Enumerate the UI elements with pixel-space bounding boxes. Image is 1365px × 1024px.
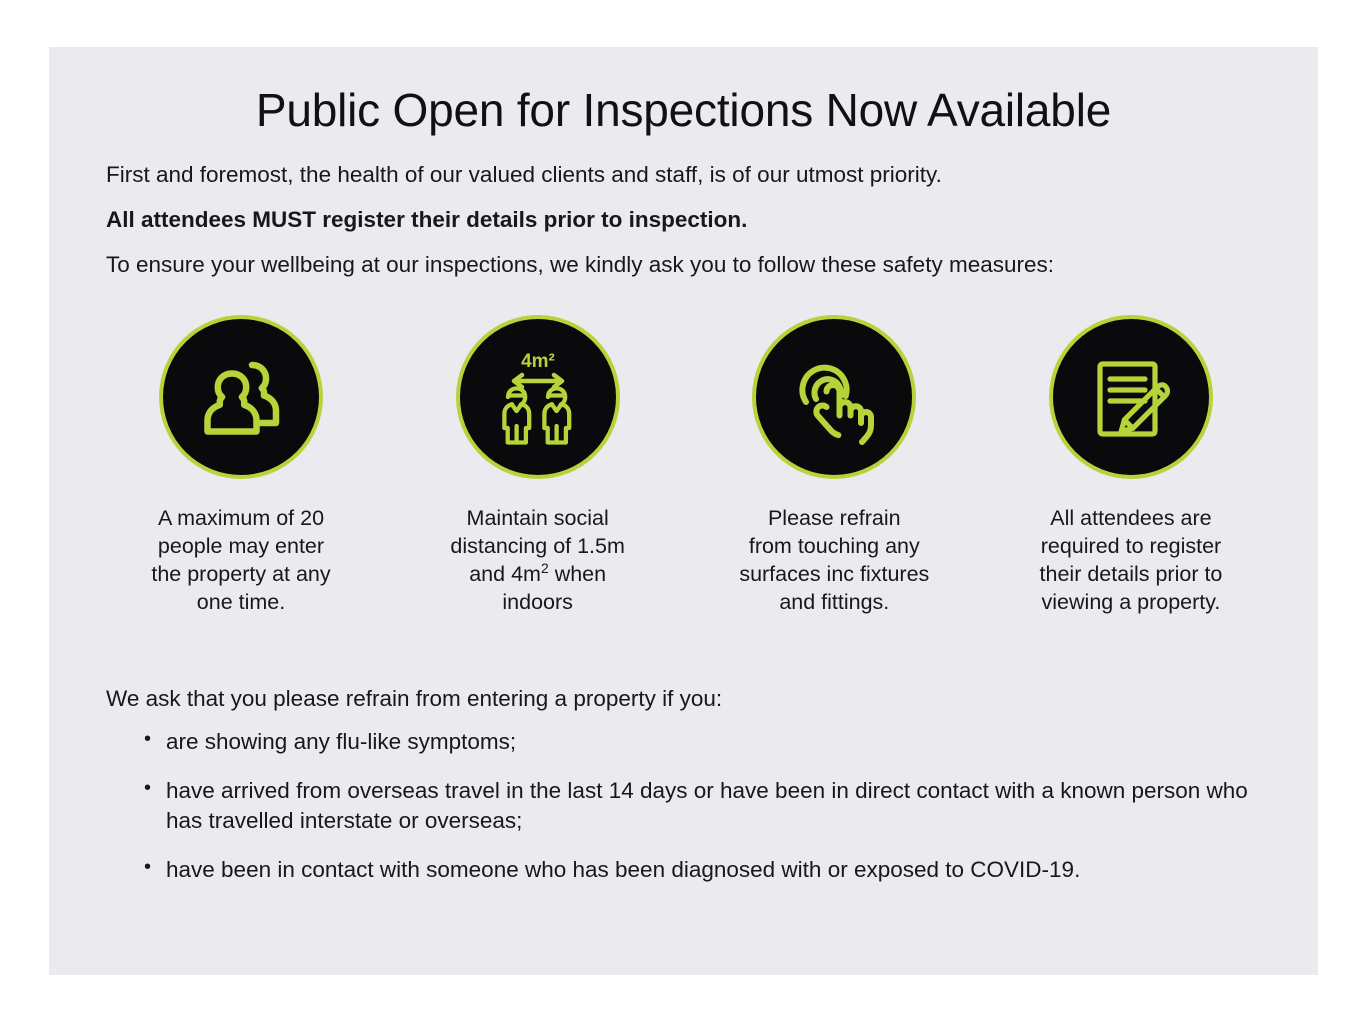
refrain-conditions-list: are showing any flu-like symptoms; have … — [106, 727, 1276, 903]
measure-caption-register: All attendees are required to register t… — [1040, 505, 1223, 617]
two-people-badge — [159, 315, 323, 479]
measure-card-register: All attendees are required to register t… — [996, 315, 1266, 617]
two-people-icon — [189, 345, 293, 449]
footer-lead-text: We ask that you please refrain from ente… — [106, 684, 1266, 714]
safety-measures-row: A maximum of 20 people may enter the pro… — [106, 315, 1266, 617]
intro-line-1: First and foremost, the health of our va… — [106, 160, 1266, 190]
measure-card-distancing: 4m² — [403, 315, 673, 617]
list-item: have been in contact with someone who ha… — [106, 855, 1276, 886]
no-touch-hand-badge — [752, 315, 916, 479]
measure-card-no-touching: Please refrain from touching any surface… — [699, 315, 969, 617]
intro-line-2-bold: All attendees MUST register their detail… — [106, 205, 1266, 235]
social-distancing-icon: 4m² — [483, 342, 593, 452]
register-document-pencil-icon — [1081, 347, 1181, 447]
measure-card-capacity: A maximum of 20 people may enter the pro… — [106, 315, 376, 617]
slide-panel: Public Open for Inspections Now Availabl… — [49, 47, 1318, 975]
measure-caption-distancing: Maintain social distancing of 1.5m and 4… — [450, 505, 625, 617]
measure-caption-capacity: A maximum of 20 people may enter the pro… — [151, 505, 330, 617]
social-distancing-badge: 4m² — [456, 315, 620, 479]
measure-caption-no-touching: Please refrain from touching any surface… — [739, 505, 929, 617]
list-item: are showing any flu-like symptoms; — [106, 727, 1276, 758]
intro-line-3: To ensure your wellbeing at our inspecti… — [106, 250, 1266, 280]
register-document-badge — [1049, 315, 1213, 479]
page-title: Public Open for Inspections Now Availabl… — [49, 83, 1318, 137]
list-item: have arrived from overseas travel in the… — [106, 776, 1276, 837]
distancing-area-label: 4m² — [521, 351, 555, 372]
no-touch-hand-icon — [782, 345, 886, 449]
